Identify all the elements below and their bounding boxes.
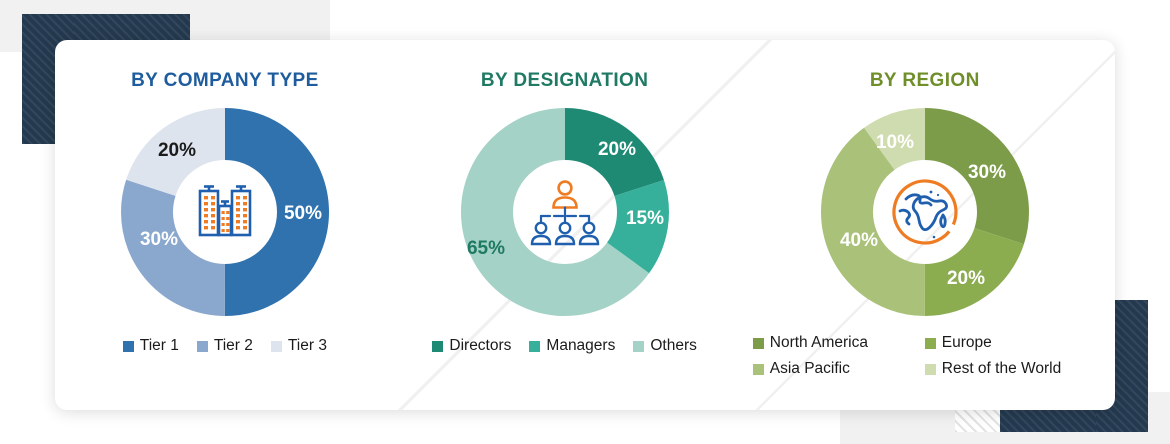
- legend-swatch-tier-1: [123, 341, 134, 352]
- legend-label-tier-3: Tier 3: [288, 337, 327, 355]
- legend-label-tier-1: Tier 1: [140, 337, 179, 355]
- legend-item-north-america[interactable]: North America: [753, 334, 925, 352]
- slice-label-directors: 20%: [598, 139, 636, 160]
- panel-region: BY REGION 30% 20% 40%: [735, 40, 1116, 410]
- panel-title-designation: BY DESIGNATION: [481, 70, 648, 92]
- slice-label-tier-3: 20%: [158, 140, 196, 161]
- legend-designation: Directors Managers Others: [423, 334, 705, 358]
- legend-swatch-directors: [432, 341, 443, 352]
- legend-label-others: Others: [650, 337, 697, 355]
- office-buildings-icon: [177, 164, 273, 260]
- legend-label-rest-of-world: Rest of the World: [942, 360, 1061, 378]
- legend-swatch-tier-2: [197, 341, 208, 352]
- legend-label-tier-2: Tier 2: [214, 337, 253, 355]
- legend-label-europe: Europe: [942, 334, 992, 352]
- globe-icon: [877, 164, 973, 260]
- legend-swatch-tier-3: [271, 341, 282, 352]
- legend-item-asia-pacific[interactable]: Asia Pacific: [753, 360, 925, 378]
- slice-label-managers: 15%: [626, 208, 664, 229]
- legend-item-rest-of-world[interactable]: Rest of the World: [925, 360, 1097, 378]
- legend-swatch-others: [633, 341, 644, 352]
- legend-label-directors: Directors: [449, 337, 511, 355]
- donut-chart-region: 30% 20% 40% 10%: [819, 106, 1031, 318]
- legend-swatch-managers: [529, 341, 540, 352]
- slice-label-tier-2: 30%: [140, 229, 178, 250]
- legend-item-managers[interactable]: Managers: [529, 337, 615, 355]
- legend-swatch-rest-of-world: [925, 364, 936, 375]
- legend-swatch-north-america: [753, 338, 764, 349]
- legend-label-managers: Managers: [546, 337, 615, 355]
- legend-item-europe[interactable]: Europe: [925, 334, 1097, 352]
- donut-chart-company-type: 50% 30% 20%: [119, 106, 331, 318]
- legend-item-tier-3[interactable]: Tier 3: [271, 337, 327, 355]
- legend-item-others[interactable]: Others: [633, 337, 697, 355]
- legend-item-tier-1[interactable]: Tier 1: [123, 337, 179, 355]
- slice-label-north-america: 30%: [968, 162, 1006, 183]
- legend-label-asia-pacific: Asia Pacific: [770, 360, 850, 378]
- slice-label-others: 65%: [467, 238, 505, 259]
- legend-label-north-america: North America: [770, 334, 868, 352]
- slice-label-rest-of-world: 10%: [876, 132, 914, 153]
- slice-label-tier-1: 50%: [284, 203, 322, 224]
- slice-label-asia-pacific: 40%: [840, 230, 878, 251]
- panel-designation: BY DESIGNATION 20% 15% 65%: [395, 40, 735, 410]
- org-chart-people-icon: [517, 164, 613, 260]
- legend-company-type: Tier 1 Tier 2 Tier 3: [114, 334, 336, 358]
- legend-region: North America Europe Asia Pacific Rest o…: [753, 334, 1097, 378]
- panel-title-company-type: BY COMPANY TYPE: [131, 70, 319, 92]
- panel-company-type: BY COMPANY TYPE 50% 30% 20%: [55, 40, 395, 410]
- legend-swatch-europe: [925, 338, 936, 349]
- legend-swatch-asia-pacific: [753, 364, 764, 375]
- panel-title-region: BY REGION: [870, 70, 980, 92]
- slice-label-europe: 20%: [947, 268, 985, 289]
- infographic-card: BY COMPANY TYPE 50% 30% 20%: [55, 40, 1115, 410]
- legend-item-tier-2[interactable]: Tier 2: [197, 337, 253, 355]
- donut-chart-designation: 20% 15% 65%: [459, 106, 671, 318]
- legend-item-directors[interactable]: Directors: [432, 337, 511, 355]
